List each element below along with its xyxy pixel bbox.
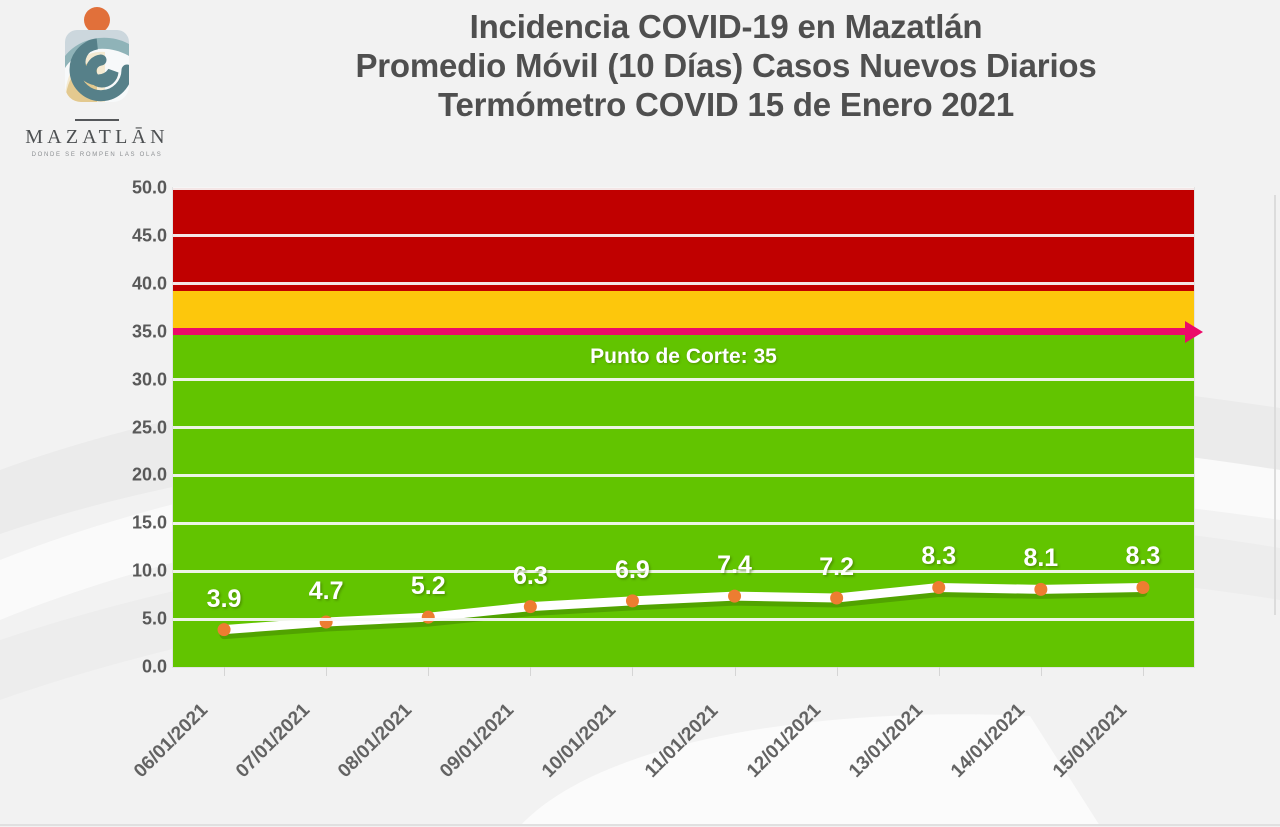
shell-wave-sun-logo-icon bbox=[49, 6, 145, 116]
data-point-label: 6.3 bbox=[513, 562, 548, 591]
x-tick-label-4: 10/01/2021 bbox=[538, 700, 621, 783]
data-point-marker[interactable] bbox=[524, 600, 537, 613]
data-point-label: 5.2 bbox=[411, 572, 446, 601]
cut-point-label: Punto de Corte: 35 bbox=[173, 345, 1194, 369]
x-tick-mark-6 bbox=[837, 667, 838, 676]
data-point-label: 3.9 bbox=[207, 585, 242, 614]
gridline-30 bbox=[173, 378, 1194, 381]
title-line-1: Incidencia COVID-19 en Mazatlán bbox=[196, 8, 1256, 47]
gridline-20 bbox=[173, 474, 1194, 477]
data-point-label: 4.7 bbox=[309, 577, 344, 606]
gridline-45 bbox=[173, 234, 1194, 237]
data-point-marker[interactable] bbox=[218, 623, 231, 636]
y-tick-label-45: 45.0 bbox=[107, 225, 167, 246]
x-tick-label-8: 14/01/2021 bbox=[947, 700, 1030, 783]
logo-divider bbox=[75, 119, 119, 121]
gridline-40 bbox=[173, 282, 1194, 285]
data-point-label: 8.3 bbox=[1126, 542, 1161, 571]
logo-tagline: DONDE SE ROMPEN LAS OLAS bbox=[18, 152, 176, 158]
x-tick-label-0: 06/01/2021 bbox=[130, 700, 213, 783]
x-axis: 06/01/202107/01/202108/01/202109/01/2021… bbox=[0, 667, 1280, 827]
y-tick-label-35: 35.0 bbox=[107, 321, 167, 342]
title-line-3: Termómetro COVID 15 de Enero 2021 bbox=[196, 86, 1256, 125]
y-tick-label-20: 20.0 bbox=[107, 465, 167, 486]
y-tick-label-40: 40.0 bbox=[107, 273, 167, 294]
x-tick-label-2: 08/01/2021 bbox=[334, 700, 417, 783]
x-tick-mark-0 bbox=[224, 667, 225, 676]
data-point-label: 8.1 bbox=[1023, 544, 1058, 573]
plot-area: Punto de Corte: 353.94.75.26.36.97.47.28… bbox=[173, 188, 1194, 667]
x-tick-mark-8 bbox=[1041, 667, 1042, 676]
chart-container: 0.05.010.015.020.025.030.035.040.045.050… bbox=[0, 182, 1280, 826]
y-tick-label-5: 5.0 bbox=[107, 609, 167, 630]
x-tick-label-7: 13/01/2021 bbox=[845, 700, 928, 783]
data-point-marker[interactable] bbox=[932, 581, 945, 594]
data-point-label: 8.3 bbox=[921, 542, 956, 571]
title-line-2: Promedio Móvil (10 Días) Casos Nuevos Di… bbox=[196, 47, 1256, 86]
data-point-label: 7.4 bbox=[717, 551, 752, 580]
x-tick-mark-9 bbox=[1143, 667, 1144, 676]
data-point-label: 7.2 bbox=[819, 553, 854, 582]
y-tick-label-15: 15.0 bbox=[107, 513, 167, 534]
data-point-marker[interactable] bbox=[626, 594, 639, 607]
x-tick-label-3: 09/01/2021 bbox=[436, 700, 519, 783]
x-tick-mark-3 bbox=[530, 667, 531, 676]
y-tick-label-10: 10.0 bbox=[107, 561, 167, 582]
data-point-marker[interactable] bbox=[1034, 583, 1047, 596]
gridline-5 bbox=[173, 618, 1194, 621]
data-point-label: 6.9 bbox=[615, 556, 650, 585]
x-tick-label-5: 11/01/2021 bbox=[641, 700, 723, 782]
x-tick-label-6: 12/01/2021 bbox=[743, 700, 826, 783]
page-title: Incidencia COVID-19 en Mazatlán Promedio… bbox=[196, 8, 1256, 125]
cut-point-line bbox=[173, 328, 1194, 335]
y-tick-label-30: 30.0 bbox=[107, 369, 167, 390]
x-tick-mark-1 bbox=[326, 667, 327, 676]
y-axis: 0.05.010.015.020.025.030.035.040.045.050… bbox=[103, 182, 167, 667]
mazatlan-logo: MAZATLĀN DONDE SE ROMPEN LAS OLAS bbox=[18, 6, 176, 176]
x-tick-mark-4 bbox=[632, 667, 633, 676]
data-point-marker[interactable] bbox=[1136, 581, 1149, 594]
gridline-25 bbox=[173, 426, 1194, 429]
x-tick-mark-2 bbox=[428, 667, 429, 676]
x-tick-label-9: 15/01/2021 bbox=[1049, 700, 1132, 783]
data-point-marker[interactable] bbox=[830, 592, 843, 605]
slide-header: MAZATLĀN DONDE SE ROMPEN LAS OLAS Incide… bbox=[0, 0, 1280, 182]
gridline-50 bbox=[173, 187, 1194, 190]
logo-wordmark: MAZATLĀN bbox=[18, 127, 176, 147]
data-point-marker[interactable] bbox=[728, 590, 741, 603]
x-tick-mark-7 bbox=[939, 667, 940, 676]
y-tick-label-25: 25.0 bbox=[107, 417, 167, 438]
x-tick-mark-5 bbox=[735, 667, 736, 676]
gridline-15 bbox=[173, 522, 1194, 525]
cut-point-arrow-icon bbox=[1185, 321, 1203, 343]
x-tick-label-1: 07/01/2021 bbox=[232, 700, 315, 783]
